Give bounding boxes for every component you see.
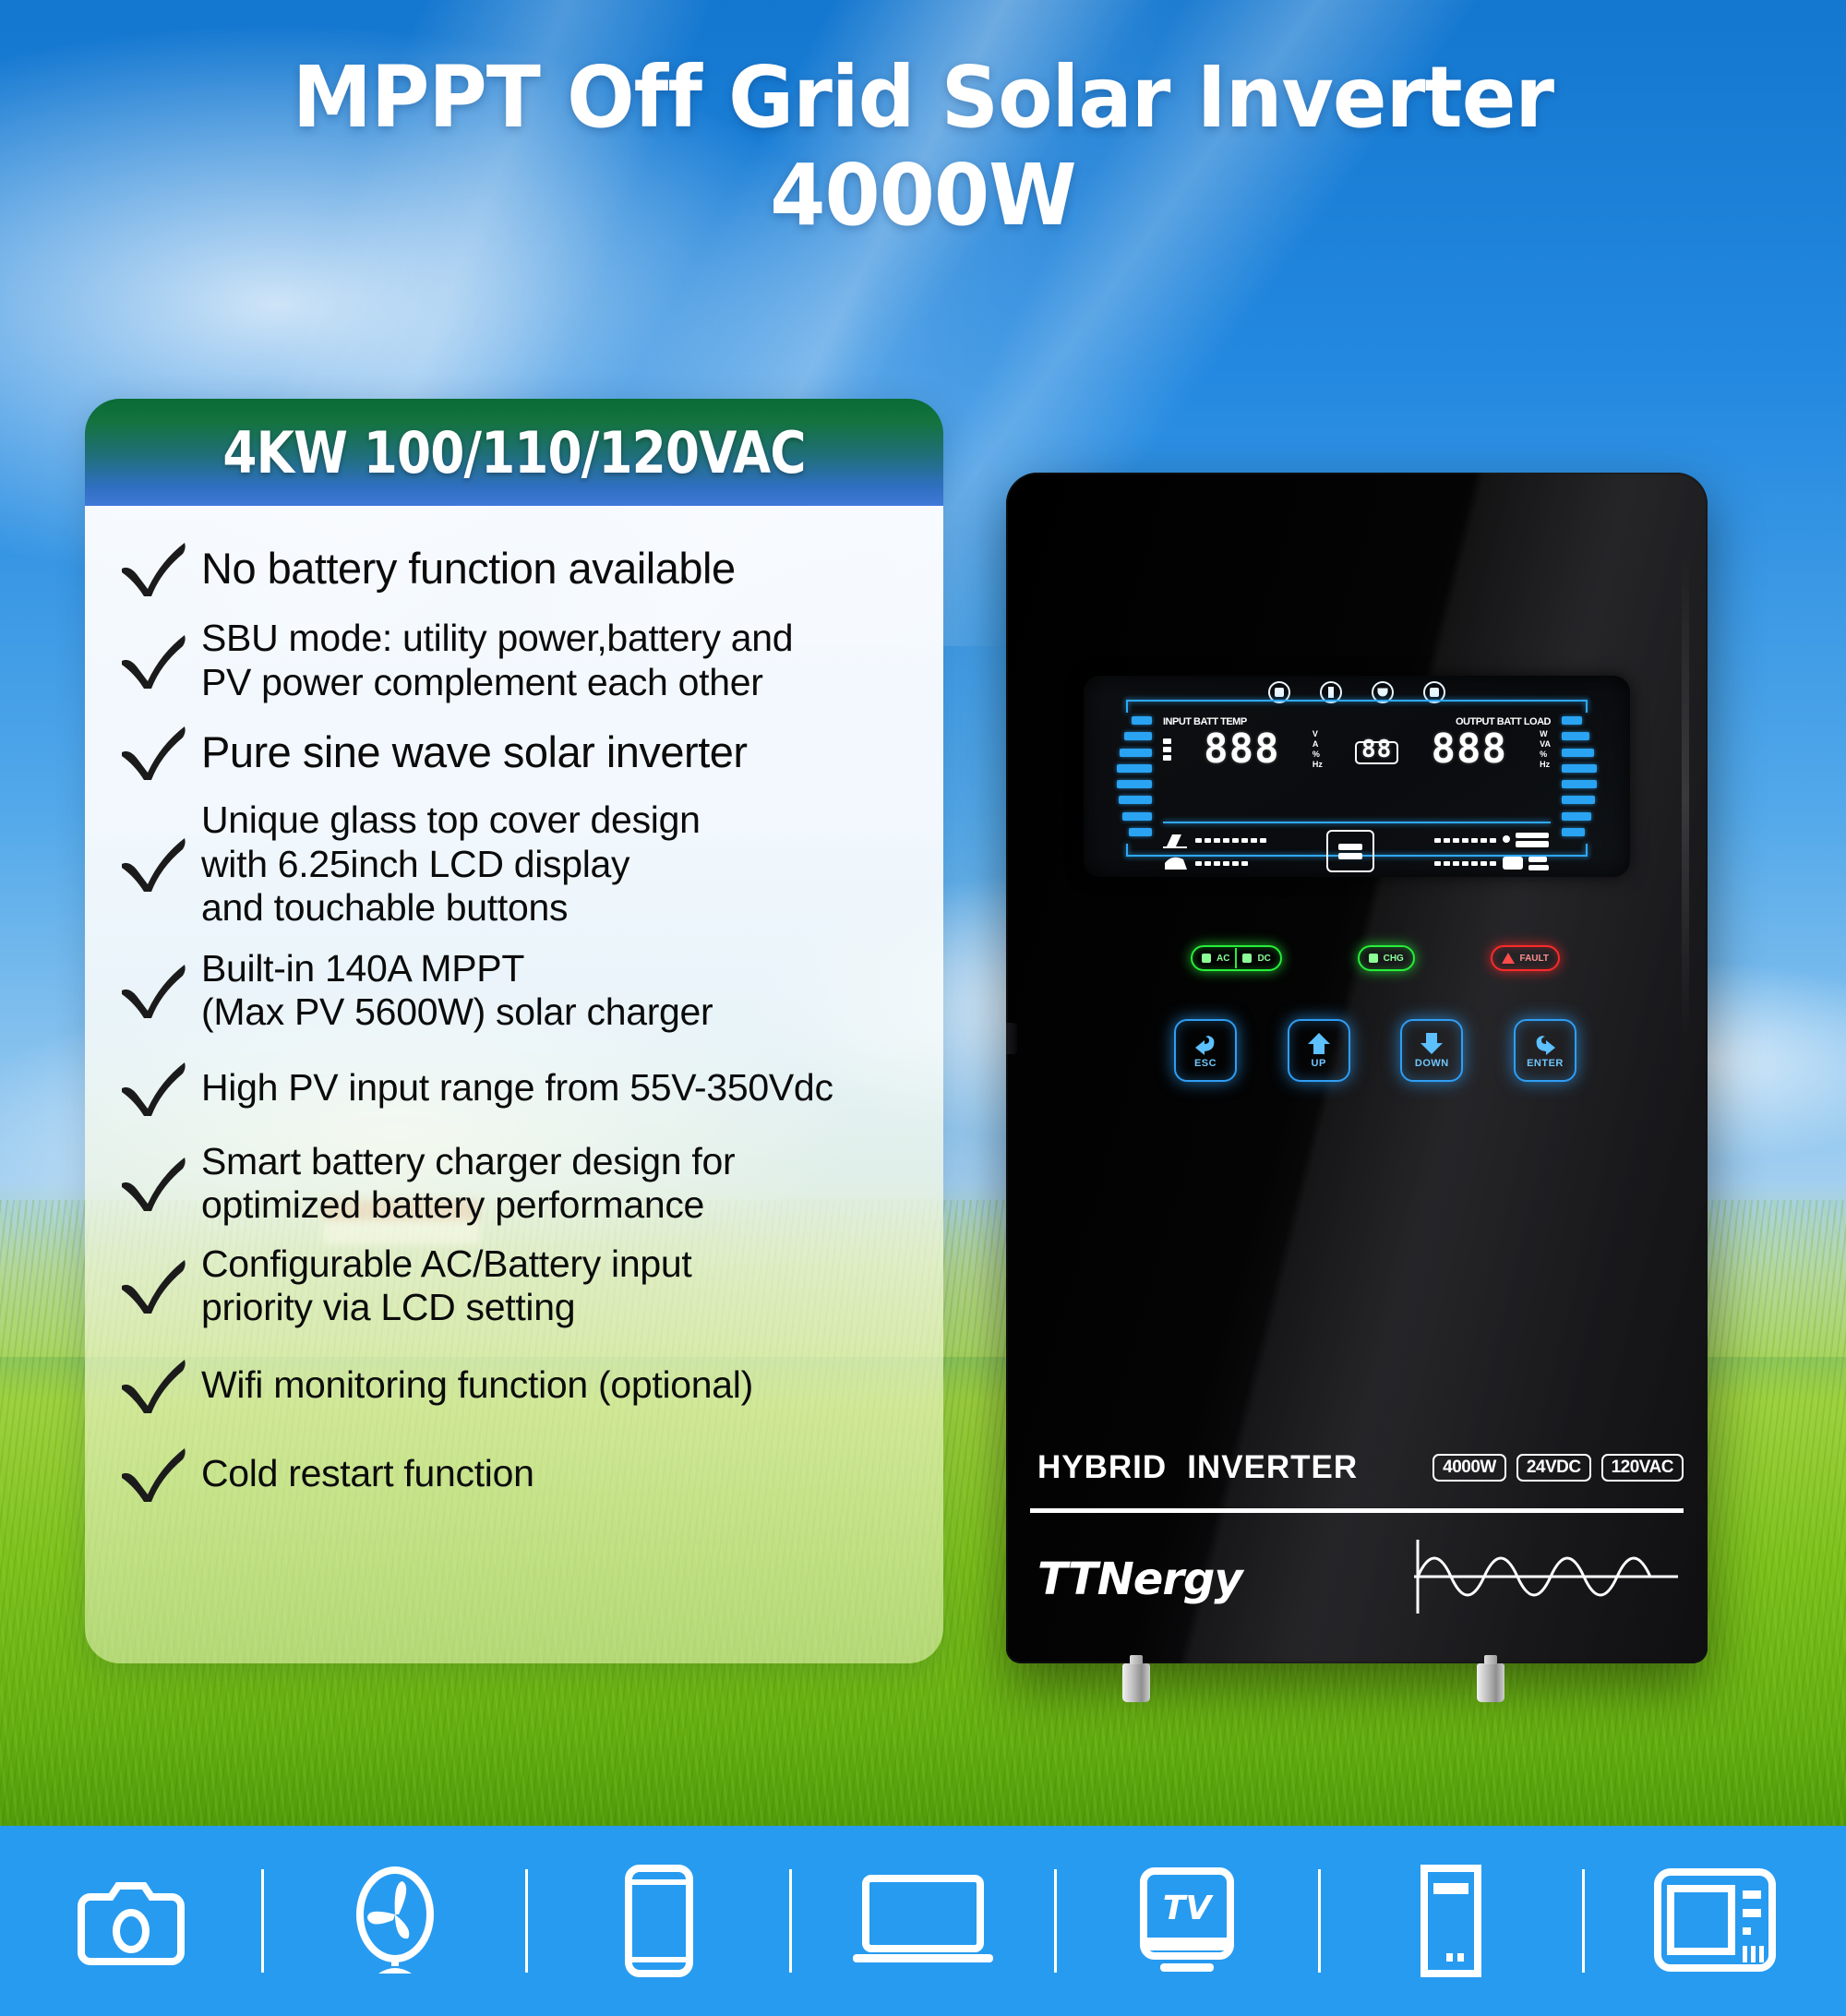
inverter-unit-icon	[1326, 830, 1374, 872]
icon-cell-laptop	[792, 1869, 1053, 1973]
lcd-bracket-corner	[1586, 700, 1588, 713]
lcd-input-value: 888	[1204, 729, 1279, 770]
touch-button-row: ESC UP DOWN	[1174, 1019, 1576, 1082]
back-arrow-icon	[1192, 1032, 1219, 1056]
feature-card-header-label: 4KW 100/110/120VAC	[222, 419, 805, 486]
down-button-label: DOWN	[1415, 1058, 1449, 1069]
ac-led-label: AC	[1217, 954, 1229, 964]
foot-left	[1122, 1663, 1150, 1702]
inverter-feet	[1006, 1663, 1708, 1704]
warning-triangle-icon	[1502, 953, 1515, 964]
feature-item: Configurable AC/Battery input priority v…	[113, 1242, 916, 1330]
chg-led-label: CHG	[1384, 954, 1404, 964]
feature-item: High PV input range from 55V-350Vdc	[113, 1055, 916, 1122]
icon-cell-smartphone	[528, 1865, 789, 1977]
fan-icon	[338, 1866, 452, 1975]
fault-led-label: FAULT	[1520, 954, 1549, 964]
lcd-center-value: 88	[1361, 736, 1392, 763]
lcd-output-value: 888	[1431, 729, 1506, 770]
checkmark-icon	[120, 1156, 192, 1213]
checkmark-icon-wrap	[113, 719, 198, 786]
checkmark-icon-wrap	[113, 1055, 198, 1122]
checkmark-icon	[120, 1258, 192, 1315]
checkmark-icon	[120, 541, 192, 598]
ac-dc-led: AC DC	[1191, 945, 1282, 971]
checkmark-icon	[120, 725, 192, 782]
lcd-input-units: VA%Hz	[1313, 730, 1323, 769]
feature-item-label: Unique glass top cover design with 6.25i…	[201, 798, 701, 930]
dc-led-label: DC	[1257, 954, 1270, 964]
feature-list: No battery function availableSBU mode: u…	[113, 535, 916, 1507]
feature-item: Smart battery charger design for optimiz…	[113, 1140, 916, 1228]
solar-panel-icon	[1163, 831, 1191, 849]
down-button[interactable]: DOWN	[1400, 1019, 1463, 1082]
checkmark-icon-wrap	[113, 1352, 198, 1419]
page-title: MPPT Off Grid Solar Inverter 4000W	[0, 55, 1846, 238]
icon-cell-microwave	[1585, 1866, 1846, 1975]
icon-cell-fan	[264, 1866, 525, 1975]
headline-line-2: 4000W	[55, 153, 1791, 238]
sine-wave-graphic	[1414, 1536, 1678, 1622]
brand-logo-text: TTNergy	[1037, 1554, 1242, 1605]
inverter-brand-row: TTNergy	[1037, 1536, 1684, 1622]
smartphone-icon	[619, 1865, 699, 1977]
checkmark-icon	[120, 1446, 192, 1504]
chg-led: CHG	[1358, 945, 1415, 971]
lcd-divider	[1163, 822, 1551, 823]
feature-item-label: SBU mode: utility power,battery and PV p…	[201, 617, 793, 704]
feature-item: Built-in 140A MPPT (Max PV 5600W) solar …	[113, 947, 916, 1035]
appliance-load-icon	[1501, 831, 1551, 849]
checkmark-icon	[120, 1358, 192, 1415]
spec-badge-group: 4000W 24VDC 120VAC	[1432, 1454, 1684, 1482]
inverter-product: INPUT BATT TEMP OUTPUT BATT LOAD 888 VA%…	[1006, 473, 1708, 1663]
inverter-model-title: HYBRIDINVERTER	[1037, 1449, 1358, 1486]
checkmark-icon	[120, 963, 192, 1020]
lcd-left-bargraph	[1102, 716, 1152, 836]
model-word-hybrid: HYBRID	[1037, 1449, 1167, 1485]
camera-icon	[74, 1869, 188, 1973]
esc-button-label: ESC	[1194, 1058, 1217, 1069]
feature-item-label: Pure sine wave solar inverter	[201, 727, 748, 778]
foot-right	[1477, 1663, 1504, 1702]
checkmark-icon-wrap	[113, 1150, 198, 1217]
tv-icon-label: TV	[1163, 1890, 1215, 1927]
checkmark-icon	[120, 1061, 192, 1118]
icon-cell-tv: TV	[1057, 1866, 1318, 1976]
down-arrow-icon	[1419, 1032, 1444, 1056]
feature-item: No battery function available	[113, 535, 916, 602]
grid-utility-icon	[1163, 855, 1191, 871]
chg-led-glyph	[1369, 954, 1378, 963]
feature-item: Pure sine wave solar inverter	[113, 719, 916, 786]
feature-item-label: Wifi monitoring function (optional)	[201, 1363, 753, 1408]
checkmark-icon	[120, 836, 192, 894]
feature-item-label: Configurable AC/Battery input priority v…	[201, 1242, 691, 1330]
lcd-display[interactable]: INPUT BATT TEMP OUTPUT BATT LOAD 888 VA%…	[1084, 676, 1630, 877]
lcd-source-pictograms	[1163, 831, 1266, 871]
lcd-load-pictograms	[1434, 831, 1551, 871]
laptop-icon	[847, 1869, 999, 1973]
icon-cell-camera	[0, 1869, 261, 1973]
inverter-model-row: HYBRIDINVERTER 4000W 24VDC 120VAC	[1037, 1449, 1684, 1486]
enter-button-label: ENTER	[1527, 1058, 1564, 1069]
lcd-output-units: WVA%Hz	[1540, 730, 1551, 769]
up-button-label: UP	[1312, 1058, 1326, 1069]
led-indicator-row: AC DC CHG FAULT	[1191, 945, 1560, 971]
brand-divider-line	[1030, 1508, 1684, 1513]
lcd-bracket-corner	[1586, 844, 1588, 857]
lcd-left-indicator-dots	[1163, 738, 1171, 761]
feature-item: Unique glass top cover design with 6.25i…	[113, 798, 916, 930]
feature-item-label: Smart battery charger design for optimiz…	[201, 1140, 735, 1228]
icon-cell-pc-tower	[1321, 1865, 1582, 1977]
feature-item: SBU mode: utility power,battery and PV p…	[113, 617, 916, 704]
lcd-right-bargraph	[1562, 716, 1612, 836]
checkmark-icon-wrap	[113, 1441, 198, 1507]
battery-load-icon	[1501, 855, 1551, 871]
checkmark-icon-wrap	[113, 831, 198, 897]
feature-card: 4KW 100/110/120VAC No battery function a…	[85, 399, 943, 1663]
pc-tower-icon	[1411, 1865, 1491, 1977]
tv-icon: TV	[1127, 1866, 1247, 1976]
lcd-bracket-corner	[1126, 700, 1128, 713]
feature-item: Cold restart function	[113, 1441, 916, 1507]
appliance-icon-bar: TV	[0, 1826, 1846, 2016]
enter-arrow-icon	[1531, 1032, 1559, 1056]
lcd-top-bracket	[1126, 700, 1588, 702]
model-word-inverter: INVERTER	[1187, 1449, 1358, 1485]
lcd-bracket-corner	[1126, 844, 1128, 857]
badge-ac-voltage: 120VAC	[1601, 1454, 1684, 1482]
feature-card-header: 4KW 100/110/120VAC	[85, 399, 943, 506]
up-arrow-icon	[1306, 1032, 1332, 1056]
checkmark-icon-wrap	[113, 1253, 198, 1319]
side-screw	[1006, 1023, 1017, 1054]
feature-item-label: Cold restart function	[201, 1452, 534, 1496]
esc-button[interactable]: ESC	[1174, 1019, 1237, 1082]
badge-power: 4000W	[1432, 1454, 1506, 1482]
up-button[interactable]: UP	[1288, 1019, 1350, 1082]
dc-led-glyph	[1242, 954, 1252, 963]
enter-button[interactable]: ENTER	[1514, 1019, 1576, 1082]
headline-line-1: MPPT Off Grid Solar Inverter	[55, 55, 1791, 140]
feature-card-body: No battery function availableSBU mode: u…	[85, 506, 943, 1663]
fault-led: FAULT	[1491, 945, 1560, 971]
badge-dc-voltage: 24VDC	[1516, 1454, 1591, 1482]
checkmark-icon	[120, 633, 192, 690]
feature-item: Wifi monitoring function (optional)	[113, 1352, 916, 1419]
feature-item-label: High PV input range from 55V-350Vdc	[201, 1066, 833, 1110]
microwave-icon	[1650, 1866, 1780, 1975]
product-banner: MPPT Off Grid Solar Inverter 4000W 4KW 1…	[0, 0, 1846, 2016]
ac-led-glyph	[1202, 954, 1211, 963]
checkmark-icon-wrap	[113, 628, 198, 694]
feature-item-label: Built-in 140A MPPT (Max PV 5600W) solar …	[201, 947, 713, 1035]
checkmark-icon-wrap	[113, 957, 198, 1024]
inverter-chassis: INPUT BATT TEMP OUTPUT BATT LOAD 888 VA%…	[1006, 473, 1708, 1663]
edge-highlight	[1682, 558, 1689, 1038]
feature-item-label: No battery function available	[201, 544, 736, 594]
checkmark-icon-wrap	[113, 535, 198, 602]
